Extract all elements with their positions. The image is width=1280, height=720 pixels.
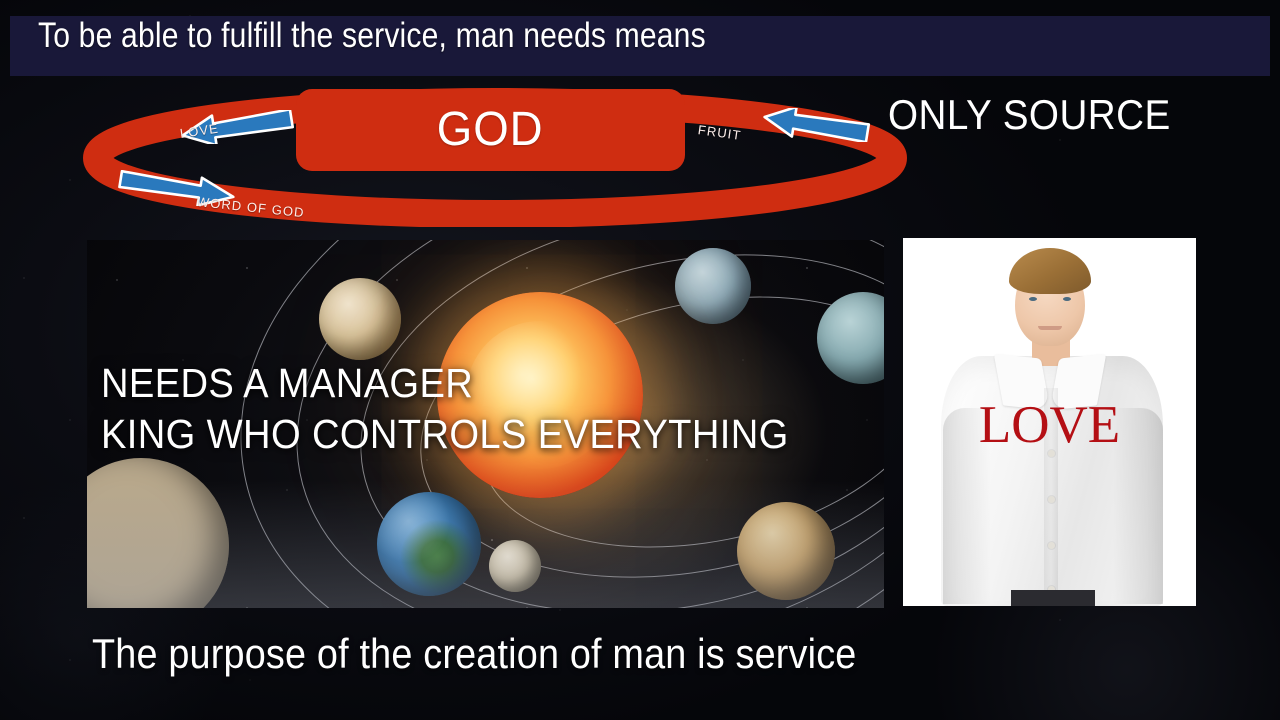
fruit-arrow-icon (756, 108, 874, 142)
waistband (1011, 590, 1095, 606)
love-overlay-label: LOVE (979, 398, 1120, 453)
planet-blue (675, 248, 751, 324)
god-label: GOD (437, 105, 544, 155)
eye-left (1029, 297, 1037, 301)
solar-overlay-text: NEEDS A MANAGER KING WHO CONTROLS EVERYT… (101, 358, 789, 460)
mouth (1038, 326, 1062, 330)
slide-canvas: To be able to fulfill the service, man n… (0, 0, 1280, 720)
only-source-label: ONLY SOURCE (888, 92, 1171, 138)
shirt-button (1048, 542, 1055, 549)
solar-overlay-line-2: KING WHO CONTROLS EVERYTHING (101, 409, 789, 460)
hair (1009, 248, 1091, 294)
planet-mars (737, 502, 835, 600)
solar-system-image: NEEDS A MANAGER KING WHO CONTROLS EVERYT… (87, 240, 884, 608)
bottom-caption: The purpose of the creation of man is se… (92, 630, 856, 678)
eye-right (1063, 297, 1071, 301)
god-box: GOD (296, 89, 685, 171)
planet-moon (489, 540, 541, 592)
shirt-shadow-right (1113, 408, 1163, 604)
person-photo: LOVE (903, 238, 1196, 606)
shirt-button (1048, 496, 1055, 503)
solar-overlay-line-1: NEEDS A MANAGER (101, 358, 789, 409)
planet-earth (377, 492, 481, 596)
planet-tan (319, 278, 401, 360)
header-title: To be able to fulfill the service, man n… (38, 17, 706, 55)
